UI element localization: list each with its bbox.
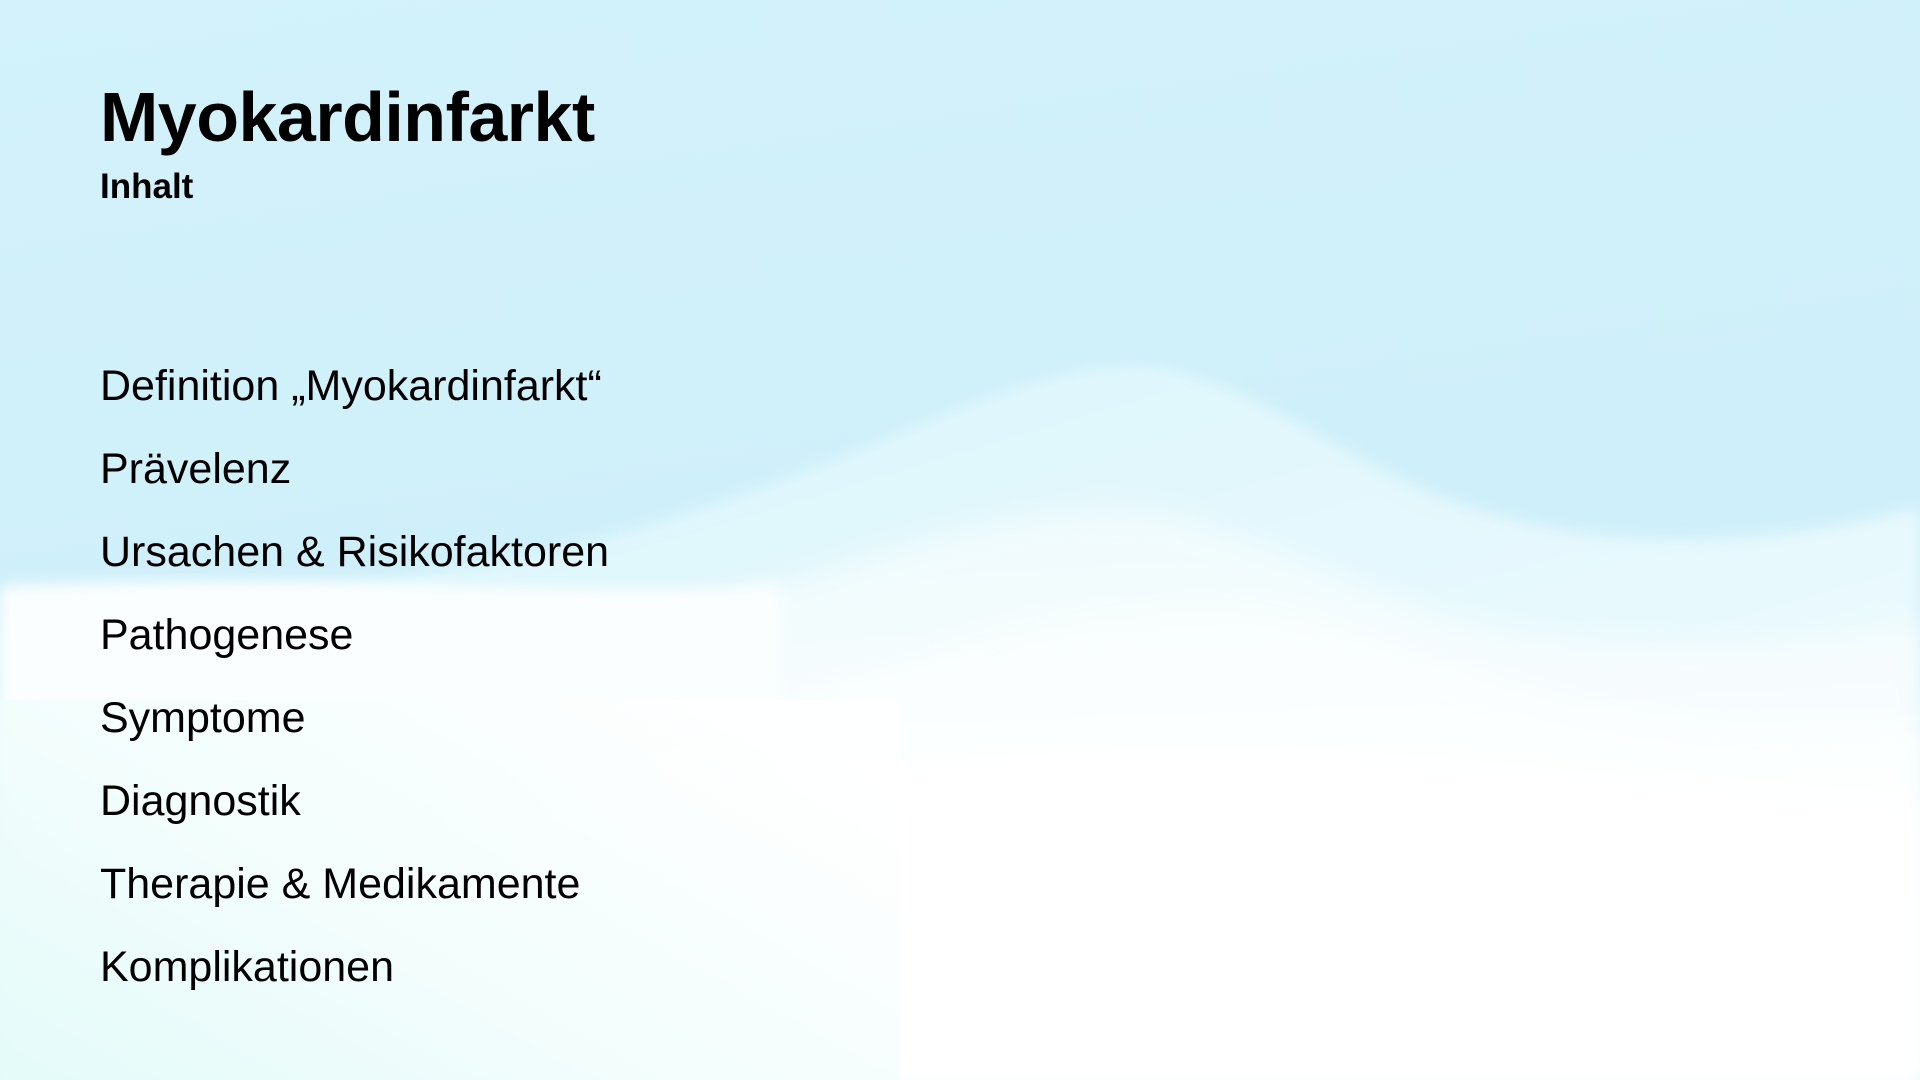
list-item: Definition „Myokardinfarkt“ [100,345,609,428]
list-item: Therapie & Medikamente [100,843,609,926]
table-of-contents-list: Definition „Myokardinfarkt“ Prävelenz Ur… [100,345,609,1009]
list-item: Symptome [100,677,609,760]
list-item: Pathogenese [100,594,609,677]
title-block: Myokardinfarkt Inhalt [100,82,595,204]
presentation-slide: Myokardinfarkt Inhalt Definition „Myokar… [0,0,1920,1080]
slide-content: Myokardinfarkt Inhalt Definition „Myokar… [0,0,1920,1080]
list-item: Diagnostik [100,760,609,843]
list-item: Prävelenz [100,428,609,511]
list-item: Ursachen & Risikofaktoren [100,511,609,594]
page-subtitle: Inhalt [100,152,595,204]
list-item: Komplikationen [100,926,609,1009]
page-title: Myokardinfarkt [100,82,595,152]
